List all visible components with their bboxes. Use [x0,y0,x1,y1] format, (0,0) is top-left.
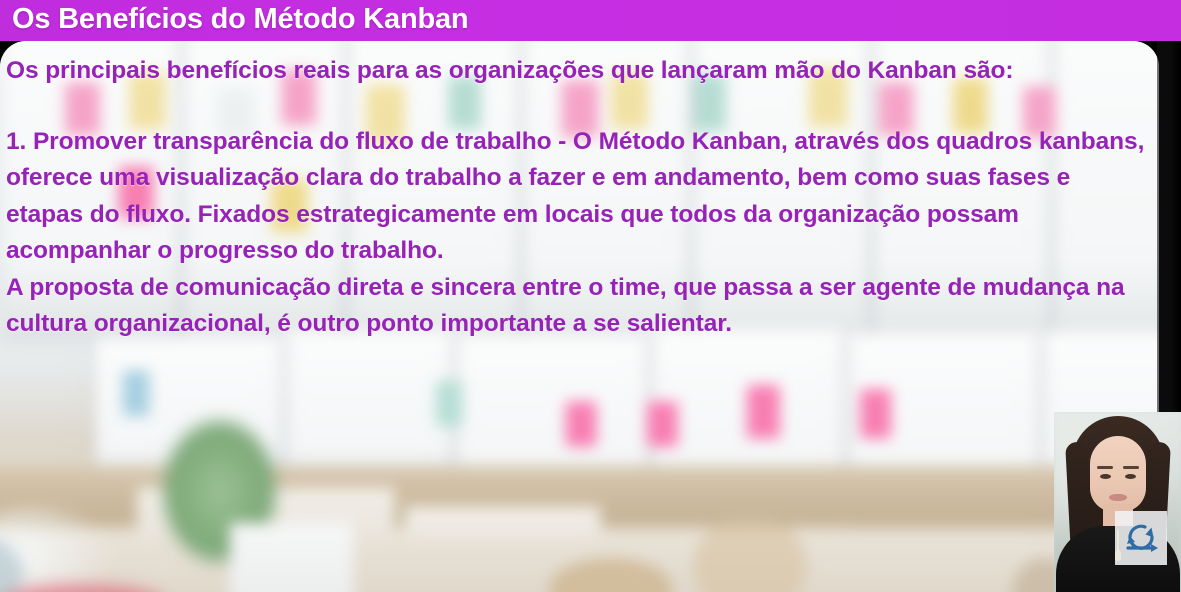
video-slide: Os Benefícios do Método Kanban Os princi… [0,0,1181,592]
page-title: Os Benefícios do Método Kanban [12,3,468,36]
slide-header-bar: Os Benefícios do Método Kanban [0,0,1181,41]
slide-body-text: Os principais benefícios reais para as o… [0,41,1159,343]
body-paragraph-1: 1. Promover transparência do fluxo de tr… [6,124,1145,270]
presenter-video [1054,412,1181,592]
lead-paragraph: Os principais benefícios reais para as o… [6,53,1145,90]
body-paragraph-2: A proposta de comunicação direta e since… [6,270,1145,343]
agile-cycle-logo-icon [1115,511,1167,565]
